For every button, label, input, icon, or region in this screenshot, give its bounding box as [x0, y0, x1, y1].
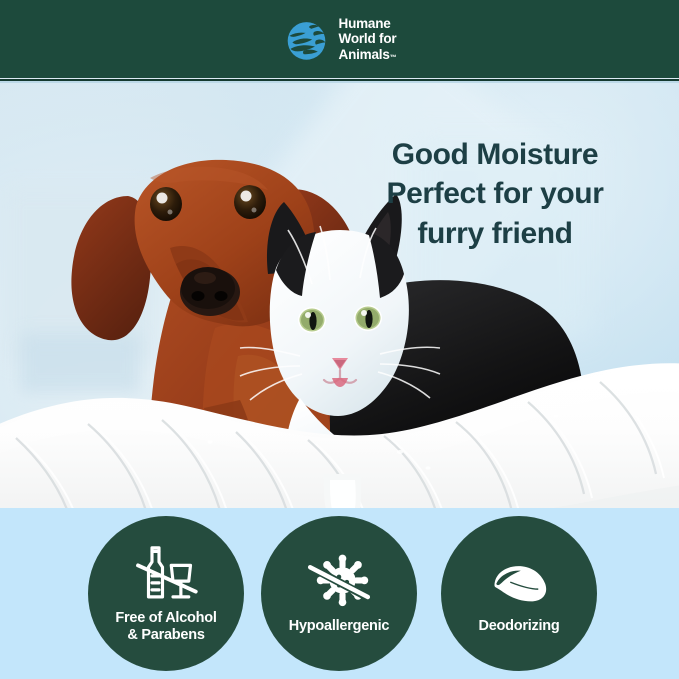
headline-line-2: Perfect for your: [345, 174, 645, 213]
hero-photo: Good Moisture Perfect for your furry fri…: [0, 78, 679, 508]
badge-label: Deodorizing: [478, 618, 559, 634]
trademark-symbol: ™: [390, 54, 397, 61]
no-alcohol-bottle-glass-icon: [131, 544, 201, 606]
hero-headline: Good Moisture Perfect for your furry fri…: [345, 135, 645, 253]
humane-world-globe-animals-icon: [283, 16, 330, 63]
headline-line-3: furry friend: [345, 214, 645, 253]
leaf-icon: [484, 552, 554, 614]
badge-label: Free of Alcohol & Parabens: [115, 610, 216, 642]
brand-name: Humane World for Animals™: [339, 16, 397, 62]
header-divider: [0, 78, 679, 83]
badge-deodorizing[interactable]: Deodorizing: [441, 516, 597, 671]
badge-label: Hypoallergenic: [289, 618, 389, 634]
badge-free-of-alcohol-parabens[interactable]: Free of Alcohol & Parabens: [88, 516, 244, 671]
badge-hypoallergenic[interactable]: Hypoallergenic: [261, 516, 417, 671]
brand-lockup: Humane World for Animals™: [283, 16, 397, 63]
product-image-card: Humane World for Animals™: [0, 0, 679, 679]
no-germ-virus-icon: [304, 552, 374, 614]
headline-line-1: Good Moisture: [345, 135, 645, 174]
brand-header: Humane World for Animals™: [0, 0, 679, 78]
cream-rope-product: [0, 332, 679, 508]
feature-badges: Free of Alcohol & Parabens: [0, 508, 679, 679]
